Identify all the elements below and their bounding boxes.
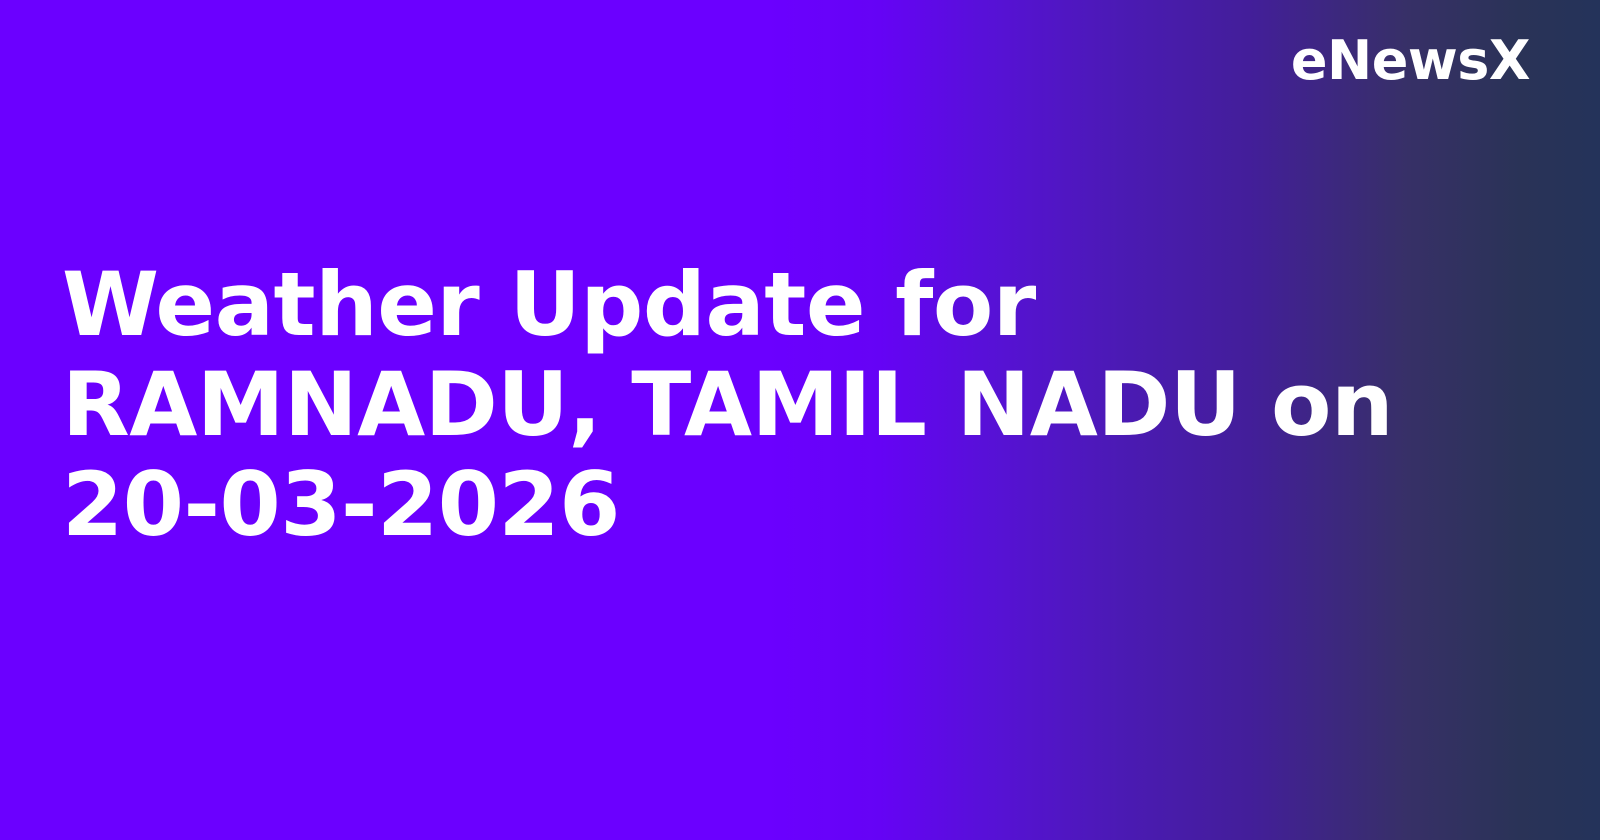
page-title: Weather Update for RAMNADU, TAMIL NADU o… xyxy=(62,255,1402,555)
brand-logo[interactable]: eNewsX xyxy=(1291,33,1530,90)
news-banner: eNewsX Weather Update for RAMNADU, TAMIL… xyxy=(0,0,1600,840)
